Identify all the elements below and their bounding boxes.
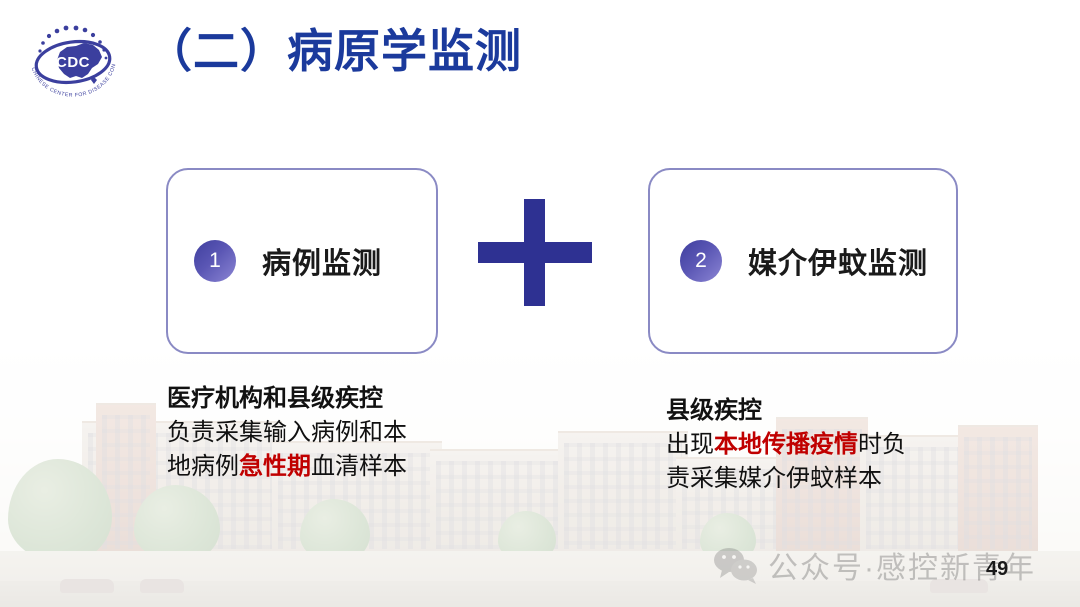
photo-building (958, 425, 1038, 555)
card-number-badge: 2 (680, 240, 722, 282)
monitoring-card-case-surveillance[interactable]: 1 病例监测 (166, 168, 438, 354)
caption-right-line2: 责采集媒介伊蚊样本 (666, 462, 906, 496)
caption-right-line1: 出现本地传播疫情时负 (666, 428, 906, 462)
wechat-icon (712, 546, 760, 584)
caption-right-line1-highlight: 本地传播疫情 (714, 431, 858, 458)
plus-vertical-bar (524, 199, 545, 306)
caption-left-line2-highlight: 急性期 (239, 453, 311, 480)
china-cdc-logo: CDC CHINESE CENTER FOR DISEASE CONTROL A… (14, 12, 132, 106)
monitoring-card-vector-surveillance[interactable]: 2 媒介伊蚊监测 (648, 168, 958, 354)
page-title: （二）病原学监测 (146, 24, 522, 79)
caption-right-line1-pre: 出现 (666, 431, 714, 458)
card-content: 1 病例监测 (194, 240, 382, 282)
caption-right-line1-post: 时负 (858, 431, 906, 458)
logo-cdc-text: CDC (56, 54, 90, 71)
caption-left: 医疗机构和县级疾控 负责采集输入病例和本 地病例急性期血清样本 (167, 382, 407, 484)
photo-car (140, 579, 184, 593)
slide-root: CDC CHINESE CENTER FOR DISEASE CONTROL A… (0, 0, 1080, 607)
caption-left-line2: 地病例急性期血清样本 (167, 450, 407, 484)
photo-car (60, 579, 114, 593)
page-number: 49 (986, 558, 1008, 581)
caption-left-heading: 医疗机构和县级疾控 (167, 382, 407, 416)
caption-left-line1: 负责采集输入病例和本 (167, 416, 407, 450)
card-content: 2 媒介伊蚊监测 (680, 240, 928, 282)
caption-left-line2-pre: 地病例 (167, 453, 239, 480)
caption-left-line2-post: 血清样本 (311, 453, 407, 480)
caption-left-line1-text: 负责采集输入病例和本 (167, 419, 407, 446)
card-number-badge: 1 (194, 240, 236, 282)
caption-right: 县级疾控 出现本地传播疫情时负 责采集媒介伊蚊样本 (666, 394, 906, 496)
card-label: 媒介伊蚊监测 (748, 240, 928, 282)
card-label: 病例监测 (262, 240, 382, 282)
caption-right-heading: 县级疾控 (666, 394, 906, 428)
plus-icon (478, 199, 592, 306)
